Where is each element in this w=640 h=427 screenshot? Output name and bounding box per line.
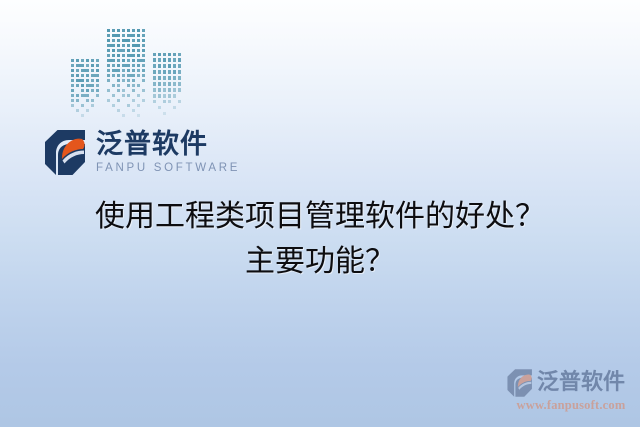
poster-canvas: 泛普软件 FANPU SOFTWARE 使用工程类项目管理软件的好处？ 主要功能… [0,0,640,427]
page-title-line-1: 使用工程类项目管理软件的好处？ [0,194,640,239]
page-title-line-2: 主要功能？ [0,239,640,284]
pixel-building-skyline-icon [68,24,184,122]
fanpu-logo-mark-watermark-icon [505,368,535,398]
brand-text-block: 泛普软件 FANPU SOFTWARE [96,128,240,175]
brand-logo: 泛普软件 FANPU SOFTWARE [41,128,240,177]
watermark-url: www.fanpusoft.com [505,398,637,413]
page-title: 使用工程类项目管理软件的好处？ 主要功能？ [0,194,640,284]
watermark: 泛普软件 www.fanpusoft.com [505,368,637,413]
fanpu-logo-mark-icon [41,128,90,177]
brand-name-en: FANPU SOFTWARE [96,161,240,175]
brand-name-cn: 泛普软件 [96,129,240,160]
watermark-brand-name: 泛普软件 [537,370,625,396]
watermark-logo-row: 泛普软件 [505,368,637,398]
